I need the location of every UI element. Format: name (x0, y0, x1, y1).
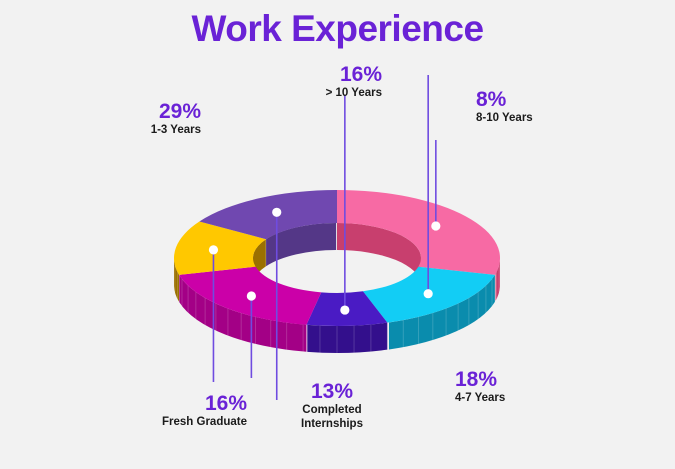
callout-label: 8-10 Years (476, 111, 616, 125)
callout-label-line1: Completed (277, 403, 387, 417)
callout-label: Fresh Graduate (120, 415, 247, 429)
callout-1-3-years: 29% 1-3 Years (66, 100, 201, 137)
callout-percent: 13% (277, 380, 387, 403)
chart-canvas: Work Experience 29% 1-3 Years 16% > 10 Y… (0, 0, 675, 469)
callout-percent: 18% (455, 368, 595, 391)
callout-4-7-years: 18% 4-7 Years (455, 368, 595, 405)
callout-label: 4-7 Years (455, 391, 595, 405)
callout-completed-internships: 13% Completed Internships (277, 380, 387, 431)
callout-percent: 29% (66, 100, 201, 123)
donut-slices (174, 190, 500, 353)
callout-label: 1-3 Years (66, 123, 201, 137)
callout-8-10-years: 8% 8-10 Years (476, 88, 616, 125)
callout-fresh-graduate: 16% Fresh Graduate (120, 392, 247, 429)
callout-percent: 8% (476, 88, 616, 111)
callout-label: > 10 Years (245, 86, 382, 100)
callout-over-10-years: 16% > 10 Years (245, 63, 382, 100)
callout-label-line2: Internships (277, 417, 387, 431)
callout-percent: 16% (245, 63, 382, 86)
callout-percent: 16% (120, 392, 247, 415)
